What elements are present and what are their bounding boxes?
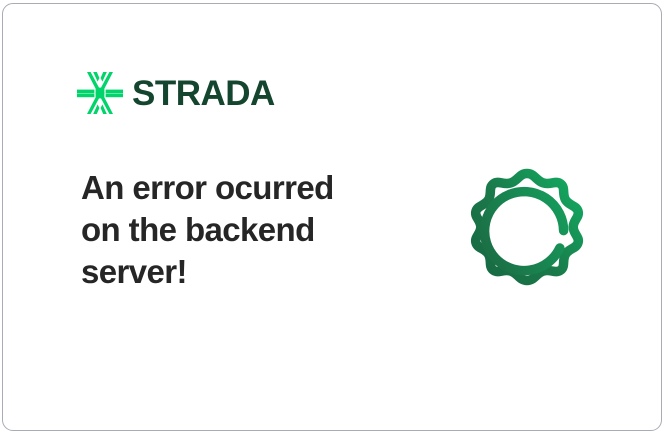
strada-asterisk-icon: [77, 70, 123, 116]
error-card: STRADA An error ocurred on the backend s…: [2, 3, 662, 431]
error-message-text: An error ocurred on the backend server!: [81, 167, 381, 293]
brand-wordmark: STRADA: [132, 76, 275, 111]
brand-lockup: STRADA: [77, 70, 275, 116]
